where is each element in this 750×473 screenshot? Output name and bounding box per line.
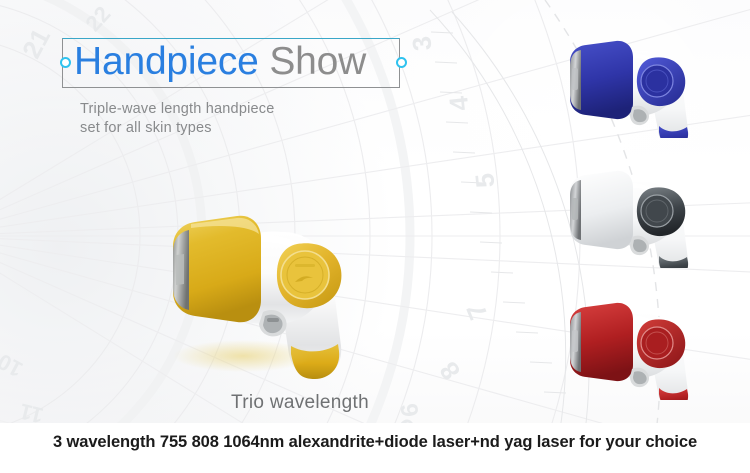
page-title: Handpiece Show (74, 36, 366, 88)
subtitle-text: Triple-wave length handpiece set for all… (80, 100, 400, 138)
main-handpiece-image (145, 160, 395, 390)
bottom-banner-text: 3 wavelength 755 808 1064nm alexandrite+… (0, 433, 750, 452)
promo-banner: 21 22 3 4 5 6 7 8 9 10 11 Handpiece Show… (0, 0, 750, 473)
page-title-secondary: Show (269, 40, 366, 83)
handpiece-row-808: 808nm diode laser (450, 150, 750, 280)
title-handle-right-icon[interactable] (396, 57, 407, 68)
page-title-accent: Handpiece (74, 40, 269, 83)
handpiece-row-1064: 1064nm diode laser (450, 282, 750, 412)
handpiece-image-1064 (556, 282, 746, 400)
handpiece-row-755: 755nm diode laser (450, 20, 750, 150)
handpiece-image-808 (556, 150, 746, 268)
bottom-banner: 3 wavelength 755 808 1064nm alexandrite+… (0, 423, 750, 473)
title-handle-left-icon[interactable] (60, 57, 71, 68)
main-handpiece-caption: Trio wavelength (140, 392, 460, 414)
handpiece-image-755 (556, 20, 746, 138)
